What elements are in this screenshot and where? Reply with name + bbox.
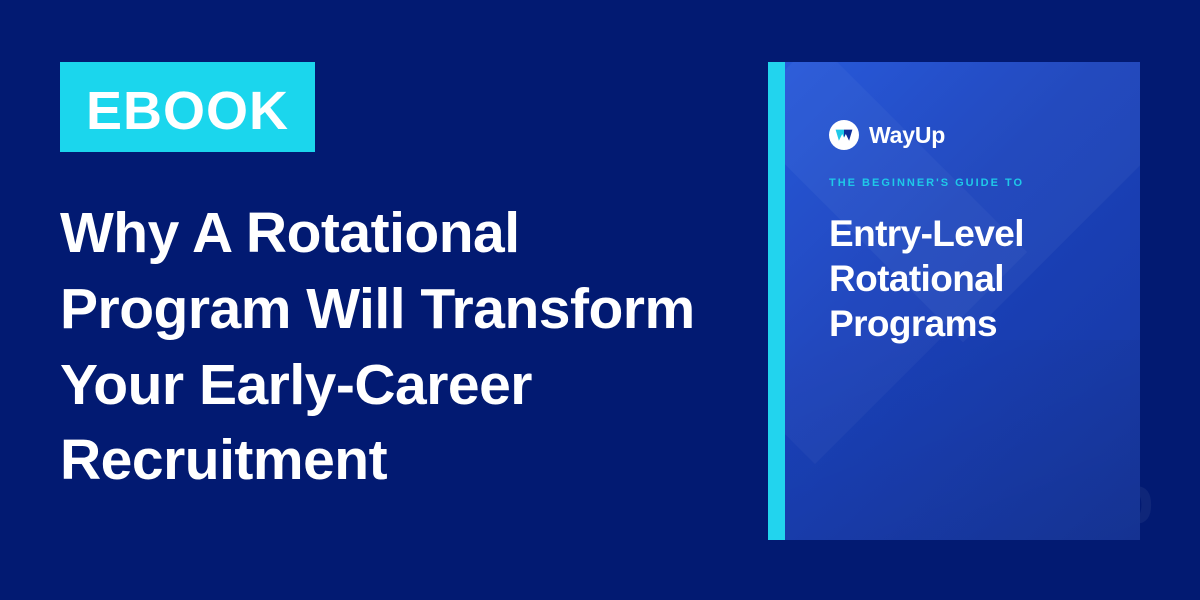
cover-brand-lockup: WayUp (829, 120, 1129, 150)
cover-title-line: Rotational (829, 256, 1129, 301)
ebook-badge: EBOOK (60, 62, 315, 152)
promo-content: EBOOK Why A Rotational Program Will Tran… (60, 62, 740, 499)
cover-eyebrow-text: THE BEGINNER'S GUIDE TO (829, 178, 1129, 189)
promo-headline: Why A Rotational Program Will Transform … (60, 196, 740, 499)
cover-title-line: Entry-Level (829, 211, 1129, 256)
wayup-w-logo-icon (829, 120, 859, 150)
ebook-cover-spine (768, 62, 785, 540)
ebook-promo-banner: WayUp EBOOK Why A Rotational Program Wil… (0, 0, 1200, 600)
ebook-cover-front: WayUp THE BEGINNER'S GUIDE TO Entry-Leve… (785, 62, 1140, 540)
wayup-wordmark: WayUp (869, 124, 945, 147)
cover-title-line: Programs (829, 301, 1129, 346)
cover-content: WayUp THE BEGINNER'S GUIDE TO Entry-Leve… (829, 120, 1129, 346)
cover-title: Entry-Level Rotational Programs (829, 211, 1129, 346)
cover-sheen-decoration (785, 340, 1140, 540)
ebook-cover[interactable]: WayUp THE BEGINNER'S GUIDE TO Entry-Leve… (768, 62, 1140, 540)
